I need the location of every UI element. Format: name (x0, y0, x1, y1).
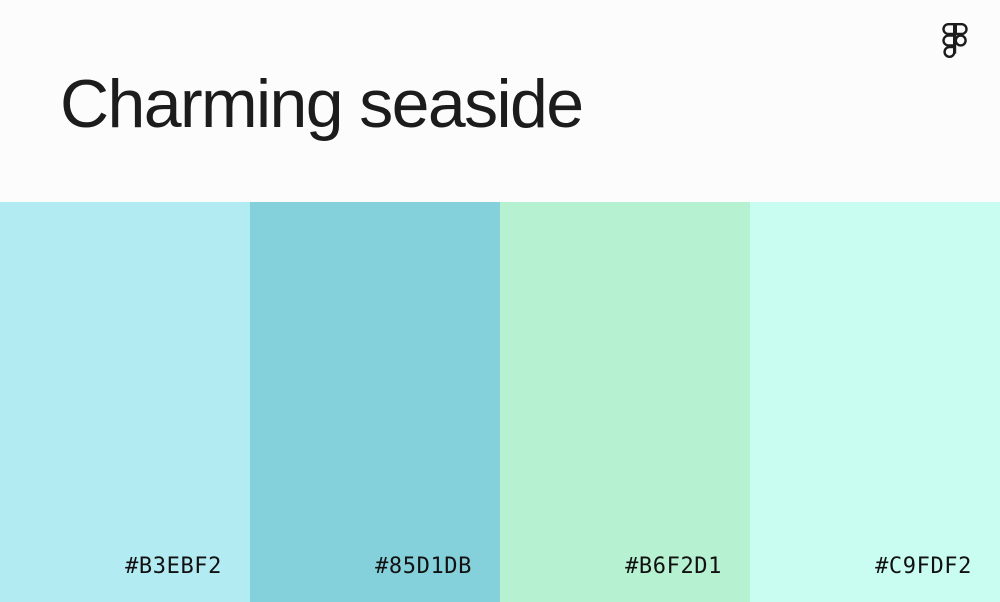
figma-logo-icon (940, 22, 970, 60)
swatch-hex-label: #B3EBF2 (125, 554, 222, 580)
palette-page: Charming seaside #B3EBF2 #85D1 (0, 0, 1000, 602)
color-swatch[interactable]: #B6F2D1 (500, 202, 750, 602)
swatch-strip: #B3EBF2 #85D1DB #B6F2D1 #C9FDF2 (0, 202, 1000, 602)
swatch-hex-label: #85D1DB (375, 554, 472, 580)
color-swatch[interactable]: #B3EBF2 (0, 202, 250, 602)
swatch-hex-label: #C9FDF2 (875, 554, 972, 580)
color-swatch[interactable]: #C9FDF2 (750, 202, 1000, 602)
swatch-hex-label: #B6F2D1 (625, 554, 722, 580)
page-title: Charming seaside (60, 62, 582, 146)
color-swatch[interactable]: #85D1DB (250, 202, 500, 602)
header-bar: Charming seaside (0, 0, 1000, 202)
